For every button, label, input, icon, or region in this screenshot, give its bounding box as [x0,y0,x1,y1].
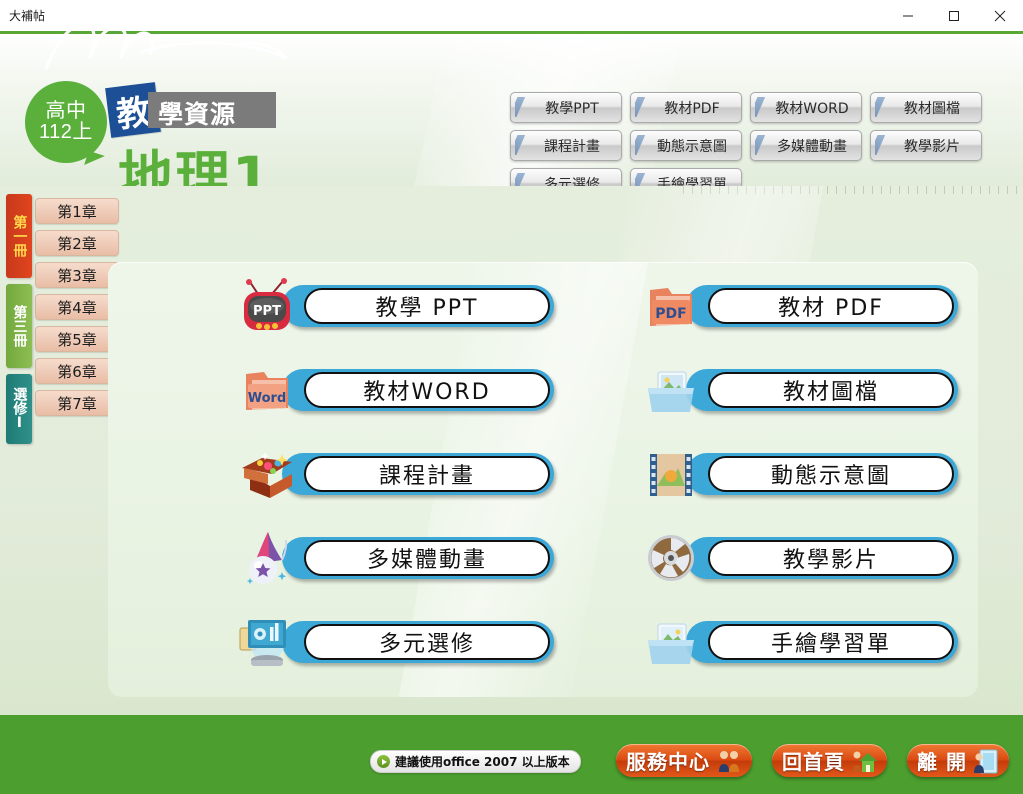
resource-bar: 教材 PDF [686,285,958,327]
image-folder-icon [642,614,700,670]
chapter-item-3[interactable]: 第3章 [35,262,119,288]
topnav-item-syllabus[interactable]: 課程計畫 [510,130,622,161]
filmstrip-icon [642,446,700,502]
service-center-label: 服務中心 [626,746,710,775]
application-window: 大補帖 高中 112上 教 學資源 地理1 [0,0,1023,794]
window-controls [885,0,1023,31]
exit-door-icon [973,748,999,774]
resource-item-word[interactable]: Word 教材WORD [238,362,554,418]
topnav-item-images[interactable]: 教材圖檔 [870,92,982,123]
topnav-label: 教學影片 [892,136,960,156]
topnav-label: 教材圖檔 [892,98,960,118]
chapter-list: 第1章 第2章 第3章 第4章 第5章 第6章 第7章 [35,198,117,422]
resource-label: 教材 PDF [778,290,884,322]
resource-label: 教材圖檔 [783,374,879,406]
sidebar-volume-label: 選修I [12,387,27,431]
resource-bar: 教學影片 [686,537,958,579]
grade-badge-line2: 112上 [39,122,93,143]
staff-icon [716,748,742,774]
grade-badge-line1: 高中 [46,101,87,122]
resource-item-pdf[interactable]: PDF 教材 PDF [642,278,958,334]
topnav-item-multimedia[interactable]: 多媒體動畫 [750,130,862,161]
exit-button[interactable]: 離 開 [907,744,1009,777]
sidebar-volume-label: 第三冊 [12,305,27,347]
resource-label: 多媒體動畫 [367,542,487,574]
top-nav-row: 教學PPT 教材PDF 教材WORD 教材圖檔 [510,92,1000,123]
chapter-item-1[interactable]: 第1章 [35,198,119,224]
magic-hat-icon [238,530,296,586]
page-title: 地理1 [118,150,272,189]
home-button[interactable]: 回首頁 [772,744,887,777]
resource-bar: 課程計畫 [282,453,554,495]
slash-icon [515,97,531,117]
chapter-item-2[interactable]: 第2章 [35,230,119,256]
topnav-label: 課程計畫 [532,136,600,156]
pdf-folder-icon: PDF [642,278,700,334]
resource-label: 多元選修 [379,626,475,658]
resource-bar: 教材圖檔 [686,369,958,411]
play-icon [377,755,390,768]
maximize-button[interactable] [931,0,977,31]
resource-label: 動態示意圖 [771,458,891,490]
word-folder-icon: Word [238,362,296,418]
resource-label: 教學影片 [783,542,879,574]
topnav-label: 教材WORD [763,98,848,118]
resource-item-worksheet[interactable]: 手繪學習單 [642,614,958,670]
content-area: 第一冊 第三冊 選修I 第1章 第2章 第3章 第4章 第5章 第6章 第7章 [0,186,1023,715]
resource-item-images[interactable]: 教材圖檔 [642,362,958,418]
chapter-item-6[interactable]: 第6章 [35,358,119,384]
chapter-item-5[interactable]: 第5章 [35,326,119,352]
topnav-label: 動態示意圖 [645,136,727,156]
topnav-label: 教學PPT [533,98,598,118]
minimize-button[interactable] [885,0,931,31]
resource-grid: PPT 教學 PPT PDF [238,278,958,670]
home-icon [851,748,877,774]
topnav-item-video[interactable]: 教學影片 [870,130,982,161]
main-panel: PPT 教學 PPT PDF [108,262,978,697]
resource-bar: 教材WORD [282,369,554,411]
resource-item-syllabus[interactable]: 課程計畫 [238,446,554,502]
resource-item-elective[interactable]: 多元選修 [238,614,554,670]
service-center-button[interactable]: 服務中心 [616,744,752,777]
svg-text:PPT: PPT [253,304,281,319]
slash-icon [755,97,771,117]
slash-icon [875,135,891,155]
resource-label: 手繪學習單 [771,626,891,658]
chapter-item-4[interactable]: 第4章 [35,294,119,320]
resource-bar: 動態示意圖 [686,453,958,495]
topnav-item-pdf[interactable]: 教材PDF [630,92,742,123]
sidebar-volume-elective[interactable]: 選修I [6,374,32,444]
chapter-item-7[interactable]: 第7章 [35,390,119,416]
resource-label: 教學 PPT [376,290,479,322]
topnav-item-animation-diagram[interactable]: 動態示意圖 [630,130,742,161]
topnav-label: 教材PDF [652,98,719,118]
sidebar-volume-1[interactable]: 第一冊 [6,194,32,278]
sidebar-volume-label: 第一冊 [12,215,27,257]
sidebar-volume-3[interactable]: 第三冊 [6,284,32,368]
slash-icon [515,135,531,155]
resource-bar: 多媒體動畫 [282,537,554,579]
slash-icon [635,97,651,117]
treasure-box-icon [238,446,296,502]
resource-label-bar: 學資源 [148,92,276,128]
footer-buttons: 服務中心 回首頁 離 開 [616,744,1009,777]
resource-item-animated-diagram[interactable]: 動態示意圖 [642,446,958,502]
slash-icon [875,97,891,117]
top-nav-row: 課程計畫 動態示意圖 多媒體動畫 教學影片 [510,130,1000,161]
resource-label: 學資源 [158,95,236,131]
resource-label: 課程計畫 [379,458,475,490]
resource-bar: 多元選修 [282,621,554,663]
svg-text:PDF: PDF [655,306,686,322]
home-label: 回首頁 [782,746,845,775]
office-version-note: 建議使用office 2007 以上版本 [370,750,581,773]
slash-icon [635,135,651,155]
topnav-item-word[interactable]: 教材WORD [750,92,862,123]
resource-item-teaching-ppt[interactable]: PPT 教學 PPT [238,278,554,334]
office-note-text: 建議使用office 2007 以上版本 [395,753,570,770]
ppt-tv-icon: PPT [238,278,296,334]
exit-label: 離 開 [917,746,967,775]
slash-icon [755,135,771,155]
nani-logo [28,12,328,70]
resource-item-video[interactable]: 教學影片 [642,530,958,586]
top-nav: 教學PPT 教材PDF 教材WORD 教材圖檔 課程計畫 [510,92,1000,189]
topnav-item-ppt[interactable]: 教學PPT [510,92,622,123]
projector-icon [238,614,296,670]
resource-bar: 手繪學習單 [686,621,958,663]
resource-label: 教材WORD [363,374,490,406]
resource-bar: 教學 PPT [282,285,554,327]
grade-badge: 高中 112上 [25,81,107,163]
svg-text:Word: Word [248,391,287,406]
close-button[interactable] [977,0,1023,31]
topnav-label: 多媒體動畫 [765,136,847,156]
resource-item-multimedia[interactable]: 多媒體動畫 [238,530,554,586]
film-reel-icon [642,530,700,586]
image-folder-icon [642,362,700,418]
